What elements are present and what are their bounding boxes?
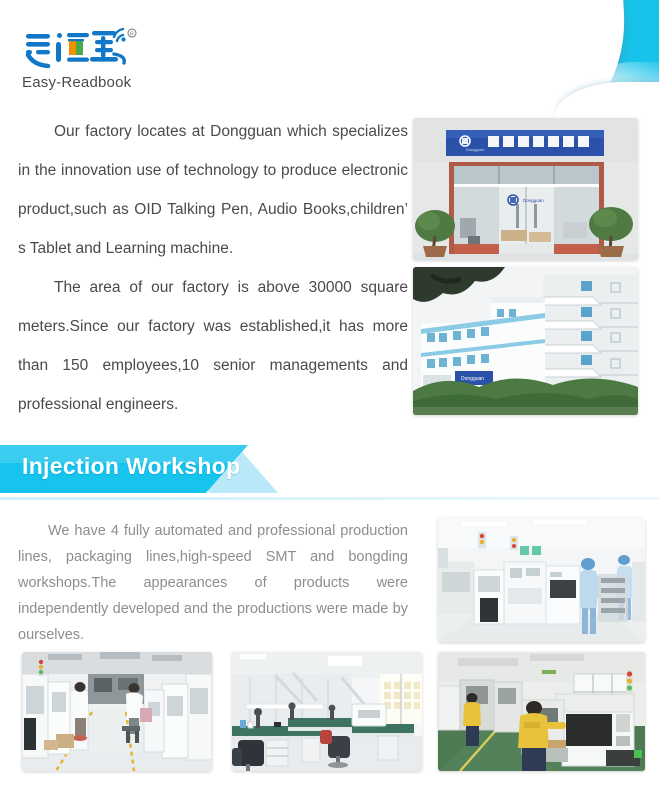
svg-text:Dongguan: Dongguan [523, 198, 544, 203]
page-curl-decoration [520, 0, 659, 118]
intro-copy-block: Our factory locates at Dongguan which sp… [18, 112, 408, 424]
photo-assembly-workbenches [232, 652, 422, 771]
svg-text:Dongguan: Dongguan [466, 147, 484, 152]
section-title: Injection Workshop [22, 453, 240, 480]
svg-text:Dongguan: Dongguan [461, 376, 484, 382]
section-banner-injection-workshop: Injection Workshop [0, 443, 290, 495]
logo-mark-icon: R [22, 24, 150, 72]
page-curl-white-peel [520, 0, 630, 118]
photo-cleanroom [438, 518, 645, 642]
page-curl-cyan-field [520, 0, 659, 110]
photo-smt-operators [438, 652, 645, 771]
intro-paragraph-1: Our factory locates at Dongguan which sp… [18, 112, 408, 268]
workshop-copy-block: We have 4 fully automated and profession… [18, 518, 408, 648]
workshop-paragraph-1: We have 4 fully automated and profession… [18, 518, 408, 648]
photo-factory-building: Dongguan [413, 267, 638, 415]
photo-factory-entrance: Dongguan Dongguan [413, 118, 638, 260]
page-curl-lip [555, 82, 659, 118]
page-curl-shade [572, 62, 659, 118]
intro-paragraph-2: The area of our factory is above 30000 s… [18, 268, 408, 424]
banner-underline [0, 497, 659, 500]
photo-smt-production-line [22, 652, 212, 771]
svg-text:R: R [130, 32, 134, 38]
logo-caption: Easy-Readbook [22, 74, 157, 91]
brand-logo: R Easy-Readbook [22, 24, 157, 91]
